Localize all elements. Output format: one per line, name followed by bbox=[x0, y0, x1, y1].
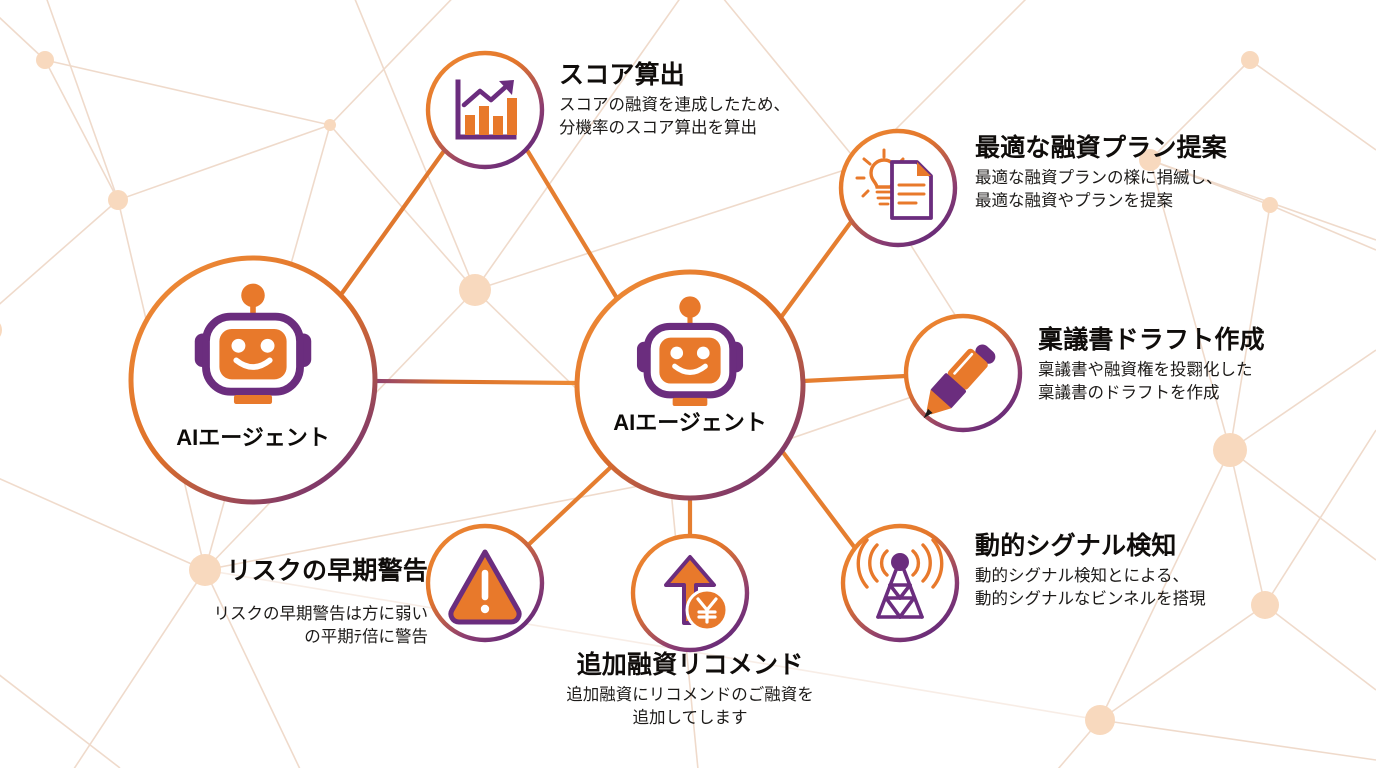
hub-left-label-text: AIエージェント bbox=[176, 425, 330, 450]
edge-hubleft-hubcenter bbox=[375, 381, 577, 383]
node-desc-additional-loan: 追加融資にリコメンドのご融資を 追加してします bbox=[490, 684, 890, 730]
node-desc-loan-plan: 最適な融資プランの檪に捐縅し、 最適な融資やプランを提案 bbox=[975, 167, 1305, 213]
node-title-draft: 稟議書ドラフト作成 bbox=[1038, 327, 1358, 354]
infographic-canvas: AIエージェント AIエージェント スコア算出 スコアの融資を連成したため、 分… bbox=[0, 0, 1376, 768]
hub-center-label: AIエージェント bbox=[590, 405, 790, 437]
hub-left-label: AIエージェント bbox=[153, 420, 353, 452]
node-title-loan-plan: 最適な融資プラン提案 bbox=[975, 135, 1305, 162]
node-text-loan-plan: 最適な融資プラン提案 最適な融資プランの檪に捐縅し、 最適な融資やプランを提案 bbox=[975, 135, 1305, 213]
hub-center-label-text: AIエージェント bbox=[613, 410, 767, 435]
node-text-additional-loan: 追加融資リコメンド 追加融資にリコメンドのご融資を 追加してします bbox=[490, 652, 890, 730]
node-desc-risk-alert: リスクの早期警告は方に弱い の平期ﾃ倍に警告 bbox=[118, 603, 428, 649]
edge-hubcenter-risk bbox=[524, 466, 612, 549]
edge-hubleft-score bbox=[340, 151, 444, 296]
edge-hubcenter-loanplan bbox=[779, 222, 851, 320]
node-text-draft: 稟議書ドラフト作成 稟議書や融資権を投翾化した 稟議書のドラフトを作成 bbox=[1038, 327, 1358, 405]
node-title-score: スコア算出 bbox=[559, 62, 859, 89]
edge-hubcenter-score bbox=[527, 150, 618, 300]
node-desc-signal: 動的シグナル検知とによる、 動的シグナルなビンネルを搭現 bbox=[975, 565, 1305, 611]
edge-hubcenter-draft bbox=[803, 376, 906, 381]
node-text-signal: 動的シグナル検知 動的シグナル検知とによる、 動的シグナルなビンネルを搭現 bbox=[975, 533, 1305, 611]
node-desc-draft: 稟議書や融資権を投翾化した 稟議書のドラフトを作成 bbox=[1038, 359, 1358, 405]
node-text-risk-alert: リスクの早期警告 リスクの早期警告は方に弱い の平期ﾃ倍に警告 bbox=[118, 558, 428, 649]
node-title-risk-alert: リスクの早期警告 bbox=[118, 558, 428, 585]
node-title-signal: 動的シグナル検知 bbox=[975, 533, 1305, 560]
node-text-score: スコア算出 スコアの融資を連成したため、 分機率のスコア算出を算出 bbox=[559, 62, 859, 140]
circle-signal bbox=[843, 526, 957, 640]
node-desc-score: スコアの融資を連成したため、 分機率のスコア算出を算出 bbox=[559, 94, 859, 140]
node-title-additional-loan: 追加融資リコメンド bbox=[490, 652, 890, 679]
edge-hubcenter-signal bbox=[782, 451, 855, 548]
